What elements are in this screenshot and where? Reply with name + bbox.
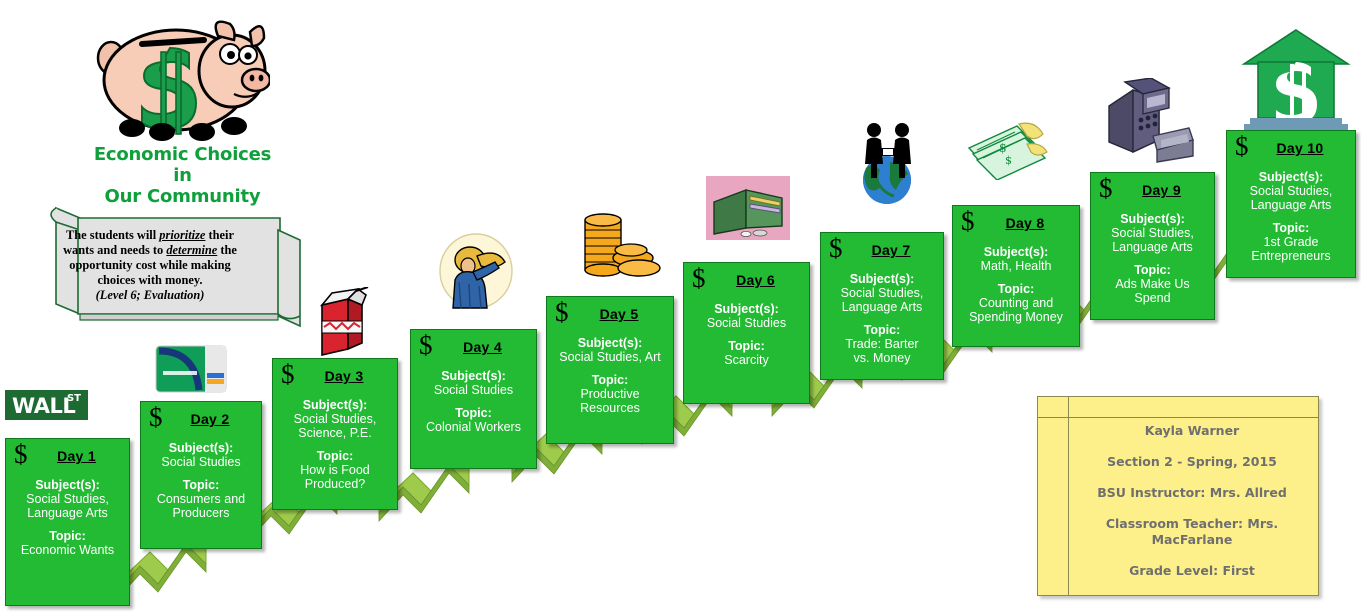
note-line-section: Section 2 - Spring, 2015 bbox=[1072, 454, 1312, 470]
day-title: Day 8 bbox=[1006, 210, 1045, 236]
day-card-2[interactable]: $ Day 2 Subject(s): Social Studies Topic… bbox=[140, 401, 262, 549]
day-title: Day 10 bbox=[1277, 135, 1324, 161]
topic-label: Topic: bbox=[1232, 221, 1350, 235]
day-title: Day 1 bbox=[57, 443, 96, 469]
topic-value-line1: 1st Grade bbox=[1232, 235, 1350, 249]
topic-value-line1: How is Food bbox=[278, 463, 392, 477]
wall-street-suffix: ST bbox=[67, 392, 81, 406]
subjects-label: Subject(s): bbox=[552, 336, 668, 350]
subjects-value-line1: Math, Health bbox=[958, 259, 1074, 273]
day-title: Day 9 bbox=[1142, 177, 1181, 203]
dollar-sign-icon: $ bbox=[419, 332, 433, 358]
day-title: Day 6 bbox=[736, 267, 775, 293]
dollar-sign-icon: $ bbox=[961, 208, 975, 234]
day-card-3[interactable]: $ Day 3 Subject(s): Social Studies, Scie… bbox=[272, 358, 398, 510]
author-note-card: Kayla Warner Section 2 - Spring, 2015 BS… bbox=[1037, 396, 1319, 596]
title-line-2: in bbox=[85, 165, 280, 186]
piggy-bank-icon bbox=[84, 8, 270, 153]
day-card-header: $ Day 6 bbox=[689, 267, 804, 293]
topic-value-line1: Productive bbox=[552, 387, 668, 401]
day-card-header: $ Day 5 bbox=[552, 301, 668, 327]
subjects-label: Subject(s): bbox=[146, 441, 256, 455]
day-title: Day 4 bbox=[463, 334, 502, 360]
dollar-sign-icon: $ bbox=[555, 299, 569, 325]
wall-street-main: WALL bbox=[12, 392, 75, 420]
subjects-label: Subject(s): bbox=[689, 302, 804, 316]
dollar-sign-icon: $ bbox=[829, 235, 843, 261]
subjects-value-line1: Social Studies, bbox=[1096, 226, 1209, 240]
wallet-icon bbox=[706, 176, 790, 240]
subjects-label: Subject(s): bbox=[958, 245, 1074, 259]
note-line-author: Kayla Warner bbox=[1072, 423, 1312, 439]
day-card-8[interactable]: $ Day 8 Subject(s): Math, Health Topic: … bbox=[952, 205, 1080, 347]
note-line-teacher: Classroom Teacher: Mrs. MacFarlane bbox=[1072, 516, 1312, 548]
topic-value-line1: Scarcity bbox=[689, 353, 804, 367]
subjects-value-line1: Social Studies, bbox=[1232, 184, 1350, 198]
topic-label: Topic: bbox=[278, 449, 392, 463]
topic-label: Topic: bbox=[958, 282, 1074, 296]
day-card-9[interactable]: $ Day 9 Subject(s): Social Studies, Lang… bbox=[1090, 172, 1215, 320]
day-title: Day 3 bbox=[325, 363, 364, 389]
subjects-label: Subject(s): bbox=[278, 398, 392, 412]
subjects-label: Subject(s): bbox=[11, 478, 124, 492]
day-title: Day 5 bbox=[600, 301, 639, 327]
day-card-4[interactable]: $ Day 4 Subject(s): Social Studies Topic… bbox=[410, 329, 537, 469]
note-text: Kayla Warner Section 2 - Spring, 2015 BS… bbox=[1072, 423, 1312, 594]
day-card-10[interactable]: $ Day 10 Subject(s): Social Studies, Lan… bbox=[1226, 130, 1356, 278]
cash-register-icon bbox=[1103, 78, 1195, 164]
topic-value-line2: Spending Money bbox=[958, 310, 1074, 324]
topic-label: Topic: bbox=[146, 478, 256, 492]
day-card-header: $ Day 10 bbox=[1232, 135, 1350, 161]
subjects-value-line1: Social Studies, Art bbox=[552, 350, 668, 364]
svg-text:$: $ bbox=[1005, 154, 1012, 167]
note-margin-rule bbox=[1068, 397, 1069, 595]
day-title: Day 7 bbox=[872, 237, 911, 263]
topic-value-line2: Resources bbox=[552, 401, 668, 415]
note-line-grade: Grade Level: First bbox=[1072, 563, 1312, 579]
topic-label: Topic: bbox=[416, 406, 531, 420]
topic-value-line1: Trade: Barter bbox=[826, 337, 938, 351]
credit-card-icon bbox=[155, 345, 227, 393]
subjects-value-line1: Social Studies, bbox=[11, 492, 124, 506]
topic-value-line2: Produced? bbox=[278, 477, 392, 491]
day-card-header: $ Day 7 bbox=[826, 237, 938, 263]
subjects-value-line2: Science, P.E. bbox=[278, 426, 392, 440]
day-card-header: $ Day 3 bbox=[278, 363, 392, 389]
topic-label: Topic: bbox=[552, 373, 668, 387]
day-card-1[interactable]: $ Day 1 Subject(s): Social Studies, Lang… bbox=[5, 438, 130, 606]
day-card-header: $ Day 4 bbox=[416, 334, 531, 360]
handshake-globe-icon bbox=[850, 118, 924, 204]
subjects-label: Subject(s): bbox=[1232, 170, 1350, 184]
topic-label: Topic: bbox=[11, 529, 124, 543]
subjects-value-line1: Social Studies bbox=[689, 316, 804, 330]
day-title: Day 2 bbox=[191, 406, 230, 432]
day-card-6[interactable]: $ Day 6 Subject(s): Social Studies Topic… bbox=[683, 262, 810, 404]
subjects-value-line2: Language Arts bbox=[1096, 240, 1209, 254]
bank-building-icon bbox=[1240, 24, 1352, 136]
day-card-header: $ Day 1 bbox=[11, 443, 124, 469]
objective-emphasis-1: prioritize bbox=[159, 228, 205, 242]
subjects-value-line2: Language Arts bbox=[826, 300, 938, 314]
milk-carton-icon bbox=[312, 287, 370, 357]
dollar-sign-icon: $ bbox=[1235, 133, 1249, 159]
day-card-header: $ Day 2 bbox=[146, 406, 256, 432]
note-line-instructor: BSU Instructor: Mrs. Allred bbox=[1072, 485, 1312, 501]
subjects-value-line1: Social Studies bbox=[146, 455, 256, 469]
subjects-label: Subject(s): bbox=[826, 272, 938, 286]
topic-value-line2: Producers bbox=[146, 506, 256, 520]
topic-label: Topic: bbox=[689, 339, 804, 353]
subjects-value-line2: Language Arts bbox=[1232, 198, 1350, 212]
day-card-7[interactable]: $ Day 7 Subject(s): Social Studies, Lang… bbox=[820, 232, 944, 380]
day-card-header: $ Day 9 bbox=[1096, 177, 1209, 203]
title-line-1: Economic Choices bbox=[85, 144, 280, 165]
topic-value-line1: Consumers and bbox=[146, 492, 256, 506]
topic-value-line2: Entrepreneurs bbox=[1232, 249, 1350, 263]
wall-street-sign: WALL ST bbox=[5, 388, 88, 422]
note-header-rule bbox=[1038, 417, 1318, 418]
cash-bills-icon: $ $ bbox=[965, 118, 1051, 180]
colonial-worker-icon bbox=[437, 232, 515, 310]
topic-value-line1: Economic Wants bbox=[11, 543, 124, 557]
objective-level: (Level 6; Evaluation) bbox=[50, 288, 250, 303]
lesson-plan-poster: Economic Choices in Our Community The st… bbox=[0, 0, 1361, 613]
dollar-sign-icon: $ bbox=[14, 441, 28, 467]
day-card-header: $ Day 8 bbox=[958, 210, 1074, 236]
objective-part1: The students will bbox=[66, 228, 159, 242]
subjects-value-line1: Social Studies bbox=[416, 383, 531, 397]
subjects-value-line2: Language Arts bbox=[11, 506, 124, 520]
subjects-label: Subject(s): bbox=[416, 369, 531, 383]
objective-emphasis-2: determine bbox=[166, 243, 217, 257]
dollar-sign-icon: $ bbox=[1099, 175, 1113, 201]
dollar-sign-icon: $ bbox=[692, 265, 706, 291]
topic-value-line1: Counting and bbox=[958, 296, 1074, 310]
topic-label: Topic: bbox=[1096, 263, 1209, 277]
dollar-sign-icon: $ bbox=[281, 361, 295, 387]
dollar-sign-icon: $ bbox=[149, 404, 163, 430]
subjects-value-line1: Social Studies, bbox=[826, 286, 938, 300]
objective-text: The students will prioritize their wants… bbox=[50, 228, 250, 303]
day-card-5[interactable]: $ Day 5 Subject(s): Social Studies, Art … bbox=[546, 296, 674, 444]
topic-label: Topic: bbox=[826, 323, 938, 337]
subjects-value-line1: Social Studies, bbox=[278, 412, 392, 426]
topic-value-line1: Ads Make Us Spend bbox=[1096, 277, 1209, 305]
topic-value-line2: vs. Money bbox=[826, 351, 938, 365]
coin-stack-icon bbox=[575, 208, 663, 286]
topic-value-line1: Colonial Workers bbox=[416, 420, 531, 434]
svg-text:$: $ bbox=[999, 141, 1007, 155]
subjects-label: Subject(s): bbox=[1096, 212, 1209, 226]
